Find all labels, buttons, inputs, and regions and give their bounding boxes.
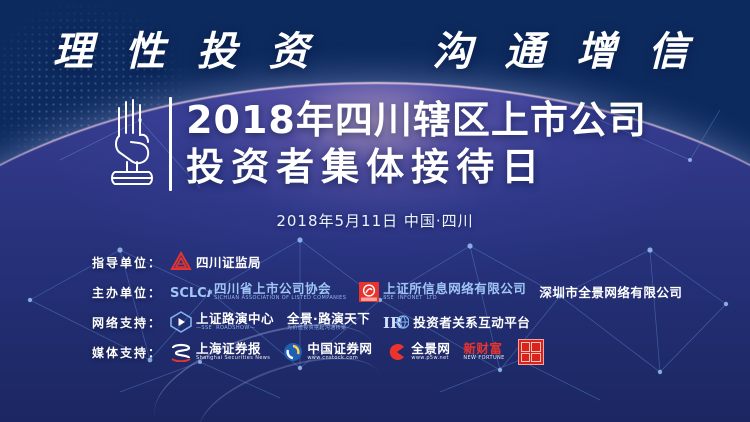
event-banner: 理 性 投 资 沟 通 增 信 2018年四川辖区上市公司 投资者集体接待日 2… (0, 0, 750, 422)
logo-sclca[interactable]: SCLCA 四川省上市公司协会 SICHUAN ASSOCIATION OF L… (170, 282, 346, 302)
logo-name: 中国证券网 (307, 342, 372, 355)
red-seal-icon (518, 339, 544, 365)
logo-ir-platform[interactable]: IR 投资者关系互动平台 (383, 313, 530, 331)
logo-name: 上证路演中心 (196, 312, 274, 325)
logo-name: 上海证券报 (196, 342, 270, 355)
sponsor-row-media-support: 媒体支持： 上海证券报 Shanghai Securities News (92, 337, 712, 367)
row-label: 指导单位： (92, 254, 170, 271)
logo-subtitle: Shanghai Securities News (196, 355, 270, 362)
logo-csrc-sichuan[interactable]: 四川证监局 (170, 251, 261, 273)
logo-subtitle: —SSE ROADSHOW— (196, 325, 274, 332)
title-line-2: 投资者集体接待日 (186, 144, 647, 191)
slogan-text: 理 性 投 资 沟 通 增 信 (0, 26, 750, 78)
logo-name: 全景网 (411, 342, 450, 355)
shanghai-securities-news-icon (170, 342, 192, 362)
sponsor-row-network-support: 网络支持： 上证路演中心 —SSE ROADSHOW— 全景·路演天下 为价值投… (92, 307, 712, 337)
event-date-location: 2018年5月11日 中国·四川 (0, 210, 750, 231)
logo-red-seal[interactable] (518, 339, 544, 365)
ir-globe-icon: IR (383, 313, 409, 331)
csrc-triangle-icon (170, 251, 192, 273)
logo-sse-infonet[interactable]: 上证所信息网络有限公司 SSE INFONET LTD (359, 282, 526, 302)
sponsor-row-organizer: 主办单位： SCLCA 四川省上市公司协会 SICHUAN ASSOCIATIO… (92, 277, 712, 307)
title-line-1: 2018年四川辖区上市公司 (186, 97, 647, 144)
logo-subtitle: www.p5w.net (411, 355, 450, 362)
logo-subtitle: SSE INFONET LTD (383, 295, 526, 302)
sponsor-row-guidance: 指导单位： 四川证监局 (92, 247, 712, 277)
logo-name: 四川证监局 (196, 256, 261, 269)
logo-sse-roadshow[interactable]: 上证路演中心 —SSE ROADSHOW— (170, 311, 274, 333)
hand-on-book-icon (103, 92, 161, 196)
sponsor-rows: 指导单位： 四川证监局 主办单位： SCLCA 四川省上市公 (92, 247, 712, 367)
row-label: 网络支持： (92, 314, 170, 331)
p5w-icon (385, 342, 407, 362)
logo-subtitle: NEW FORTUNE (463, 355, 504, 362)
logo-new-fortune[interactable]: 新财富 NEW FORTUNE (463, 342, 504, 362)
sclca-icon: SCLCA (170, 284, 210, 300)
logo-name: 全景·路演天下 (287, 312, 370, 325)
cnstock-icon (283, 342, 303, 362)
sse-infonet-icon (359, 282, 379, 302)
svg-text:SCLCA: SCLCA (170, 286, 210, 300)
logo-cnstock[interactable]: 中国证券网 www.cnstock.com (283, 342, 372, 362)
logo-p5w-company[interactable]: 深圳市全景网络有限公司 (539, 286, 682, 299)
logo-p5w-roadshow[interactable]: 全景·路演天下 为价值投资搭起沟通桥梁 (287, 312, 370, 332)
title-block: 2018年四川辖区上市公司 投资者集体接待日 (0, 92, 750, 196)
title-divider (169, 97, 172, 191)
logo-subtitle: www.cnstock.com (307, 355, 372, 362)
logo-subtitle: 为价值投资搭起沟通桥梁 (287, 325, 370, 332)
logo-shanghai-securities-news[interactable]: 上海证券报 Shanghai Securities News (170, 342, 270, 362)
logo-name: 四川省上市公司协会 (214, 282, 346, 295)
logo-name: 新财富 (463, 342, 504, 355)
row-label: 主办单位： (92, 284, 170, 301)
logo-name: 上证所信息网络有限公司 (383, 282, 526, 295)
sse-roadshow-icon (170, 311, 192, 333)
logo-p5w-net[interactable]: 全景网 www.p5w.net (385, 342, 450, 362)
logo-subtitle: SICHUAN ASSOCIATION OF LISTED COMPANIES (214, 295, 346, 302)
logo-name: 深圳市全景网络有限公司 (539, 286, 682, 299)
logo-name: 投资者关系互动平台 (413, 316, 530, 329)
row-label: 媒体支持： (92, 344, 170, 361)
